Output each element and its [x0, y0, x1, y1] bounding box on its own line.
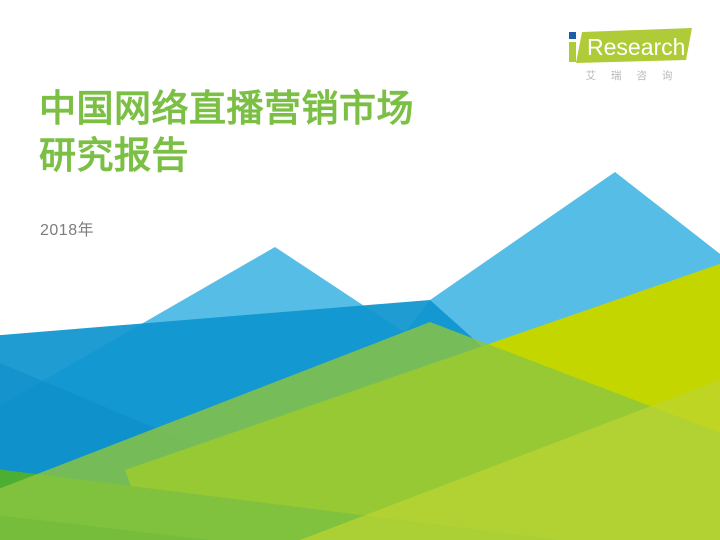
dot-icon — [569, 32, 576, 39]
logo-subtitle: 艾 瑞 咨 询 — [564, 71, 694, 82]
page-title-line-2: 研究报告 — [39, 133, 559, 180]
iresearch-logo: Research 艾 瑞 咨 询 — [564, 26, 694, 82]
report-cover-slide: Research 艾 瑞 咨 询 中国网络直播营销市场 研究报告 2018年 — [0, 0, 720, 540]
logo-i-stem — [569, 42, 576, 62]
iresearch-logo-mark: Research — [564, 26, 694, 66]
page-subtitle-year: 2018年 — [40, 223, 94, 239]
logo-wordmark: Research — [587, 34, 685, 60]
page-title: 中国网络直播营销市场 研究报告 — [39, 86, 559, 179]
page-title-line-1: 中国网络直播营销市场 — [39, 86, 559, 133]
